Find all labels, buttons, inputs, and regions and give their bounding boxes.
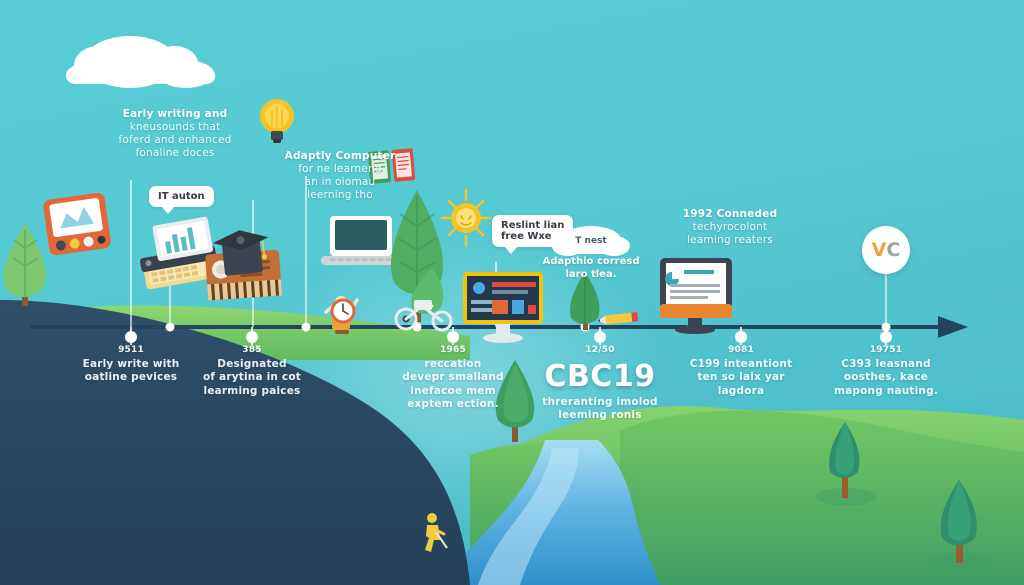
desktop-document-icon bbox=[660, 258, 732, 334]
label-year: 1965 bbox=[373, 345, 533, 356]
infographic-canvas: Early writing and kneusounds that foferd… bbox=[0, 0, 1024, 585]
label-body: for ne learnend an in oiomau leerning th… bbox=[265, 163, 415, 202]
label-body: C393 leasnand oosthes, kace mapong nauti… bbox=[806, 358, 966, 397]
icon-layer bbox=[0, 0, 1024, 585]
vc-badge-letter-v: V bbox=[872, 239, 887, 261]
label-early-writing: Early writing and kneusounds that foferd… bbox=[100, 108, 250, 161]
bicycle-icon bbox=[396, 300, 451, 330]
cloud-icon bbox=[66, 36, 215, 88]
pencil-icon bbox=[597, 312, 638, 325]
label-heading: Adaptly Computer bbox=[265, 150, 415, 163]
label-heading: Early writing and bbox=[100, 108, 250, 121]
label-year: 385 bbox=[177, 345, 327, 356]
cloud-callout-adaptive: T nest Adapthio corresd laro tlea. bbox=[548, 222, 634, 284]
tree-icon-left bbox=[4, 224, 46, 306]
label-body: Designated of arytina in cot learming pa… bbox=[177, 358, 327, 397]
label-year: 9081 bbox=[661, 345, 821, 356]
label-body: threranting imolod leeming ronis bbox=[510, 396, 690, 422]
label-385-designated: 385 Designated of arytina in cot learmin… bbox=[177, 345, 327, 398]
label-adaptive-computer: Adaptly Computer for ne learnend an in o… bbox=[265, 150, 415, 203]
label-heading: 1992 Conneded bbox=[650, 208, 810, 221]
label-year: 19751 bbox=[806, 345, 966, 356]
cloud-callout-text: T nest bbox=[548, 236, 634, 246]
vc-badge-letter-c: C bbox=[886, 239, 900, 261]
label-c199-integration: 9081 C199 inteantiont ten so laix yar la… bbox=[661, 345, 821, 398]
label-1995-occation: 1965 reccation devepr smalland inefacoe … bbox=[373, 345, 533, 411]
label-body: C199 inteantiont ten so laix yar lagdora bbox=[661, 358, 821, 397]
cloud-callout-subtext: Adapthio corresd laro tlea. bbox=[526, 256, 656, 281]
sun-icon bbox=[442, 190, 490, 246]
label-body: reccation devepr smalland inefacoe mem e… bbox=[373, 358, 533, 411]
desktop-dashboard-icon bbox=[463, 272, 543, 343]
label-c393-learnand: 19751 C393 leasnand oosthes, kace mapong… bbox=[806, 345, 966, 398]
laptop-icon bbox=[321, 216, 401, 265]
lightbulb-icon bbox=[260, 99, 294, 143]
label-body: kneusounds that foferd and enhanced fona… bbox=[100, 121, 250, 160]
tablet-device-icon bbox=[42, 192, 111, 256]
label-connected-learning: 1992 Conneded techyrocolont leaming reat… bbox=[650, 208, 810, 247]
label-body: techyrocolont leaming reaters bbox=[650, 221, 810, 247]
bubble-it-auton: IT auton bbox=[149, 186, 214, 207]
vc-badge[interactable]: VC bbox=[862, 226, 910, 274]
stopwatch-person-icon bbox=[326, 296, 357, 334]
